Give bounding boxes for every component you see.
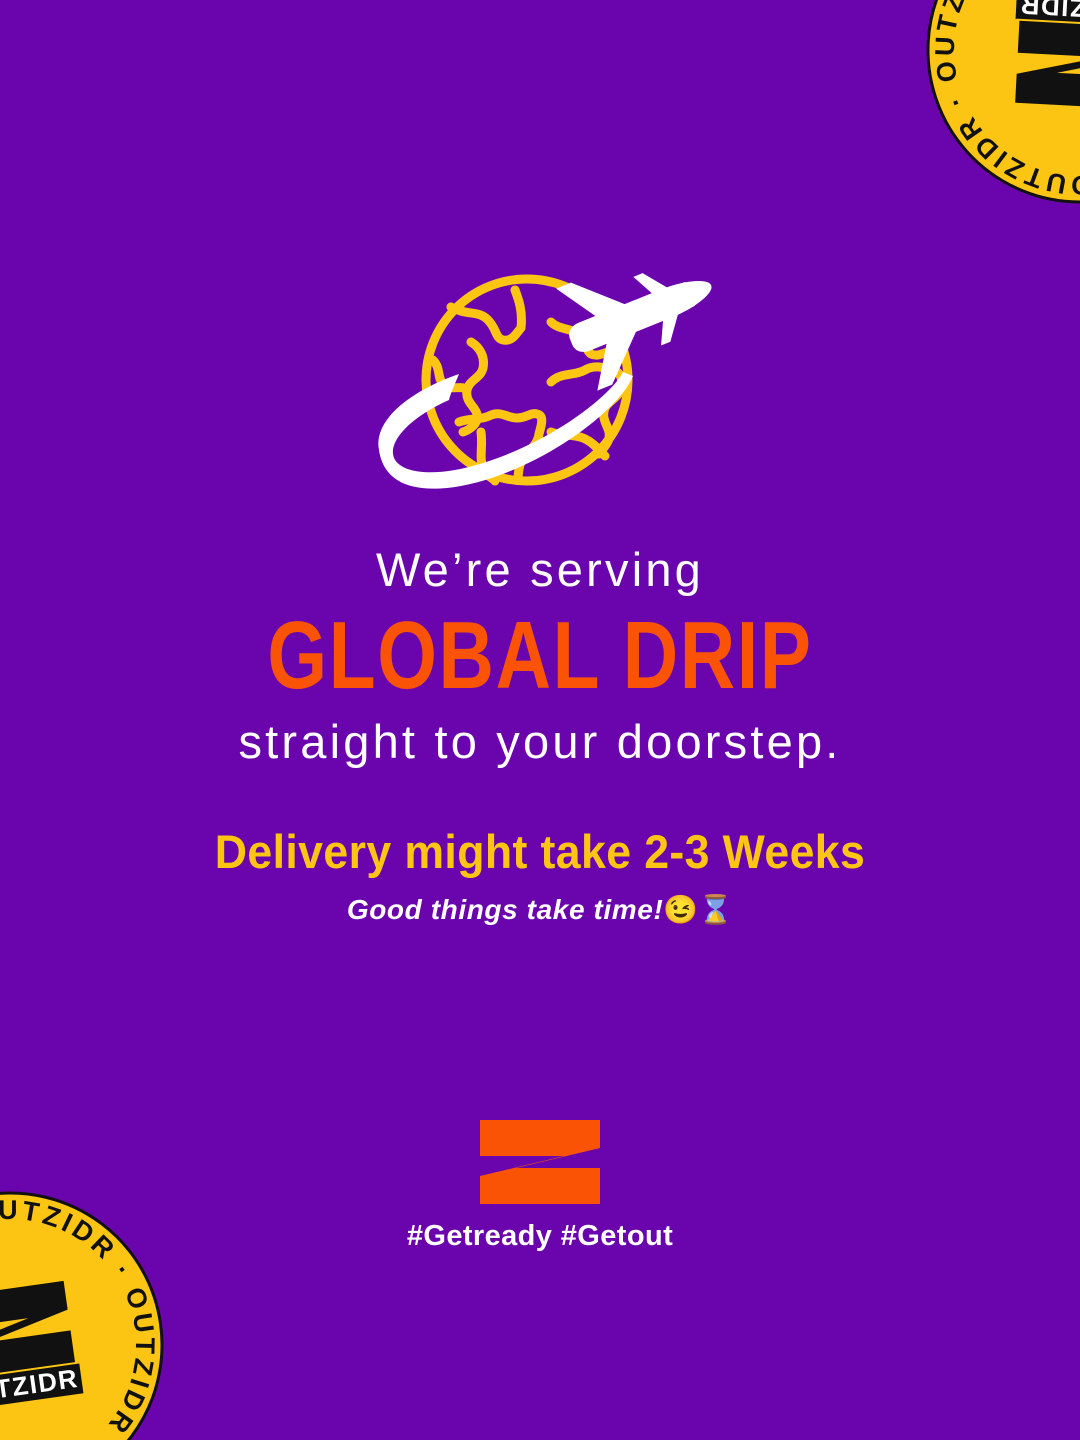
outzidr-sticker-badge-top-right: OUTZIDR · OUTZIDR · OUTZIDR · OUTZIDR · … bbox=[912, 0, 1080, 218]
page-title: GLOBAL DRIP bbox=[108, 608, 972, 704]
delivery-subtext-label: Good things take time! bbox=[347, 894, 664, 925]
subtitle-line: straight to your doorstep. bbox=[0, 714, 1080, 769]
hourglass-emoji-icon: ⌛ bbox=[698, 894, 733, 925]
outzidr-z-logo-icon bbox=[478, 1118, 602, 1206]
wink-emoji-icon: 😉 bbox=[663, 894, 698, 925]
intro-line: We’re serving bbox=[0, 546, 1080, 594]
delivery-notice: Delivery might take 2-3 Weeks Good thing… bbox=[0, 824, 1080, 926]
hashtags: #Getready #Getout bbox=[0, 1220, 1080, 1253]
delivery-subtext: Good things take time!😉⌛ bbox=[0, 893, 1080, 926]
headline-block: We’re serving GLOBAL DRIP straight to yo… bbox=[0, 546, 1080, 769]
footer-block: #Getready #Getout bbox=[0, 1118, 1080, 1253]
globe-airplane-icon bbox=[355, 272, 715, 512]
poster-canvas: We’re serving GLOBAL DRIP straight to yo… bbox=[0, 0, 1080, 1440]
delivery-headline: Delivery might take 2-3 Weeks bbox=[27, 824, 1053, 879]
